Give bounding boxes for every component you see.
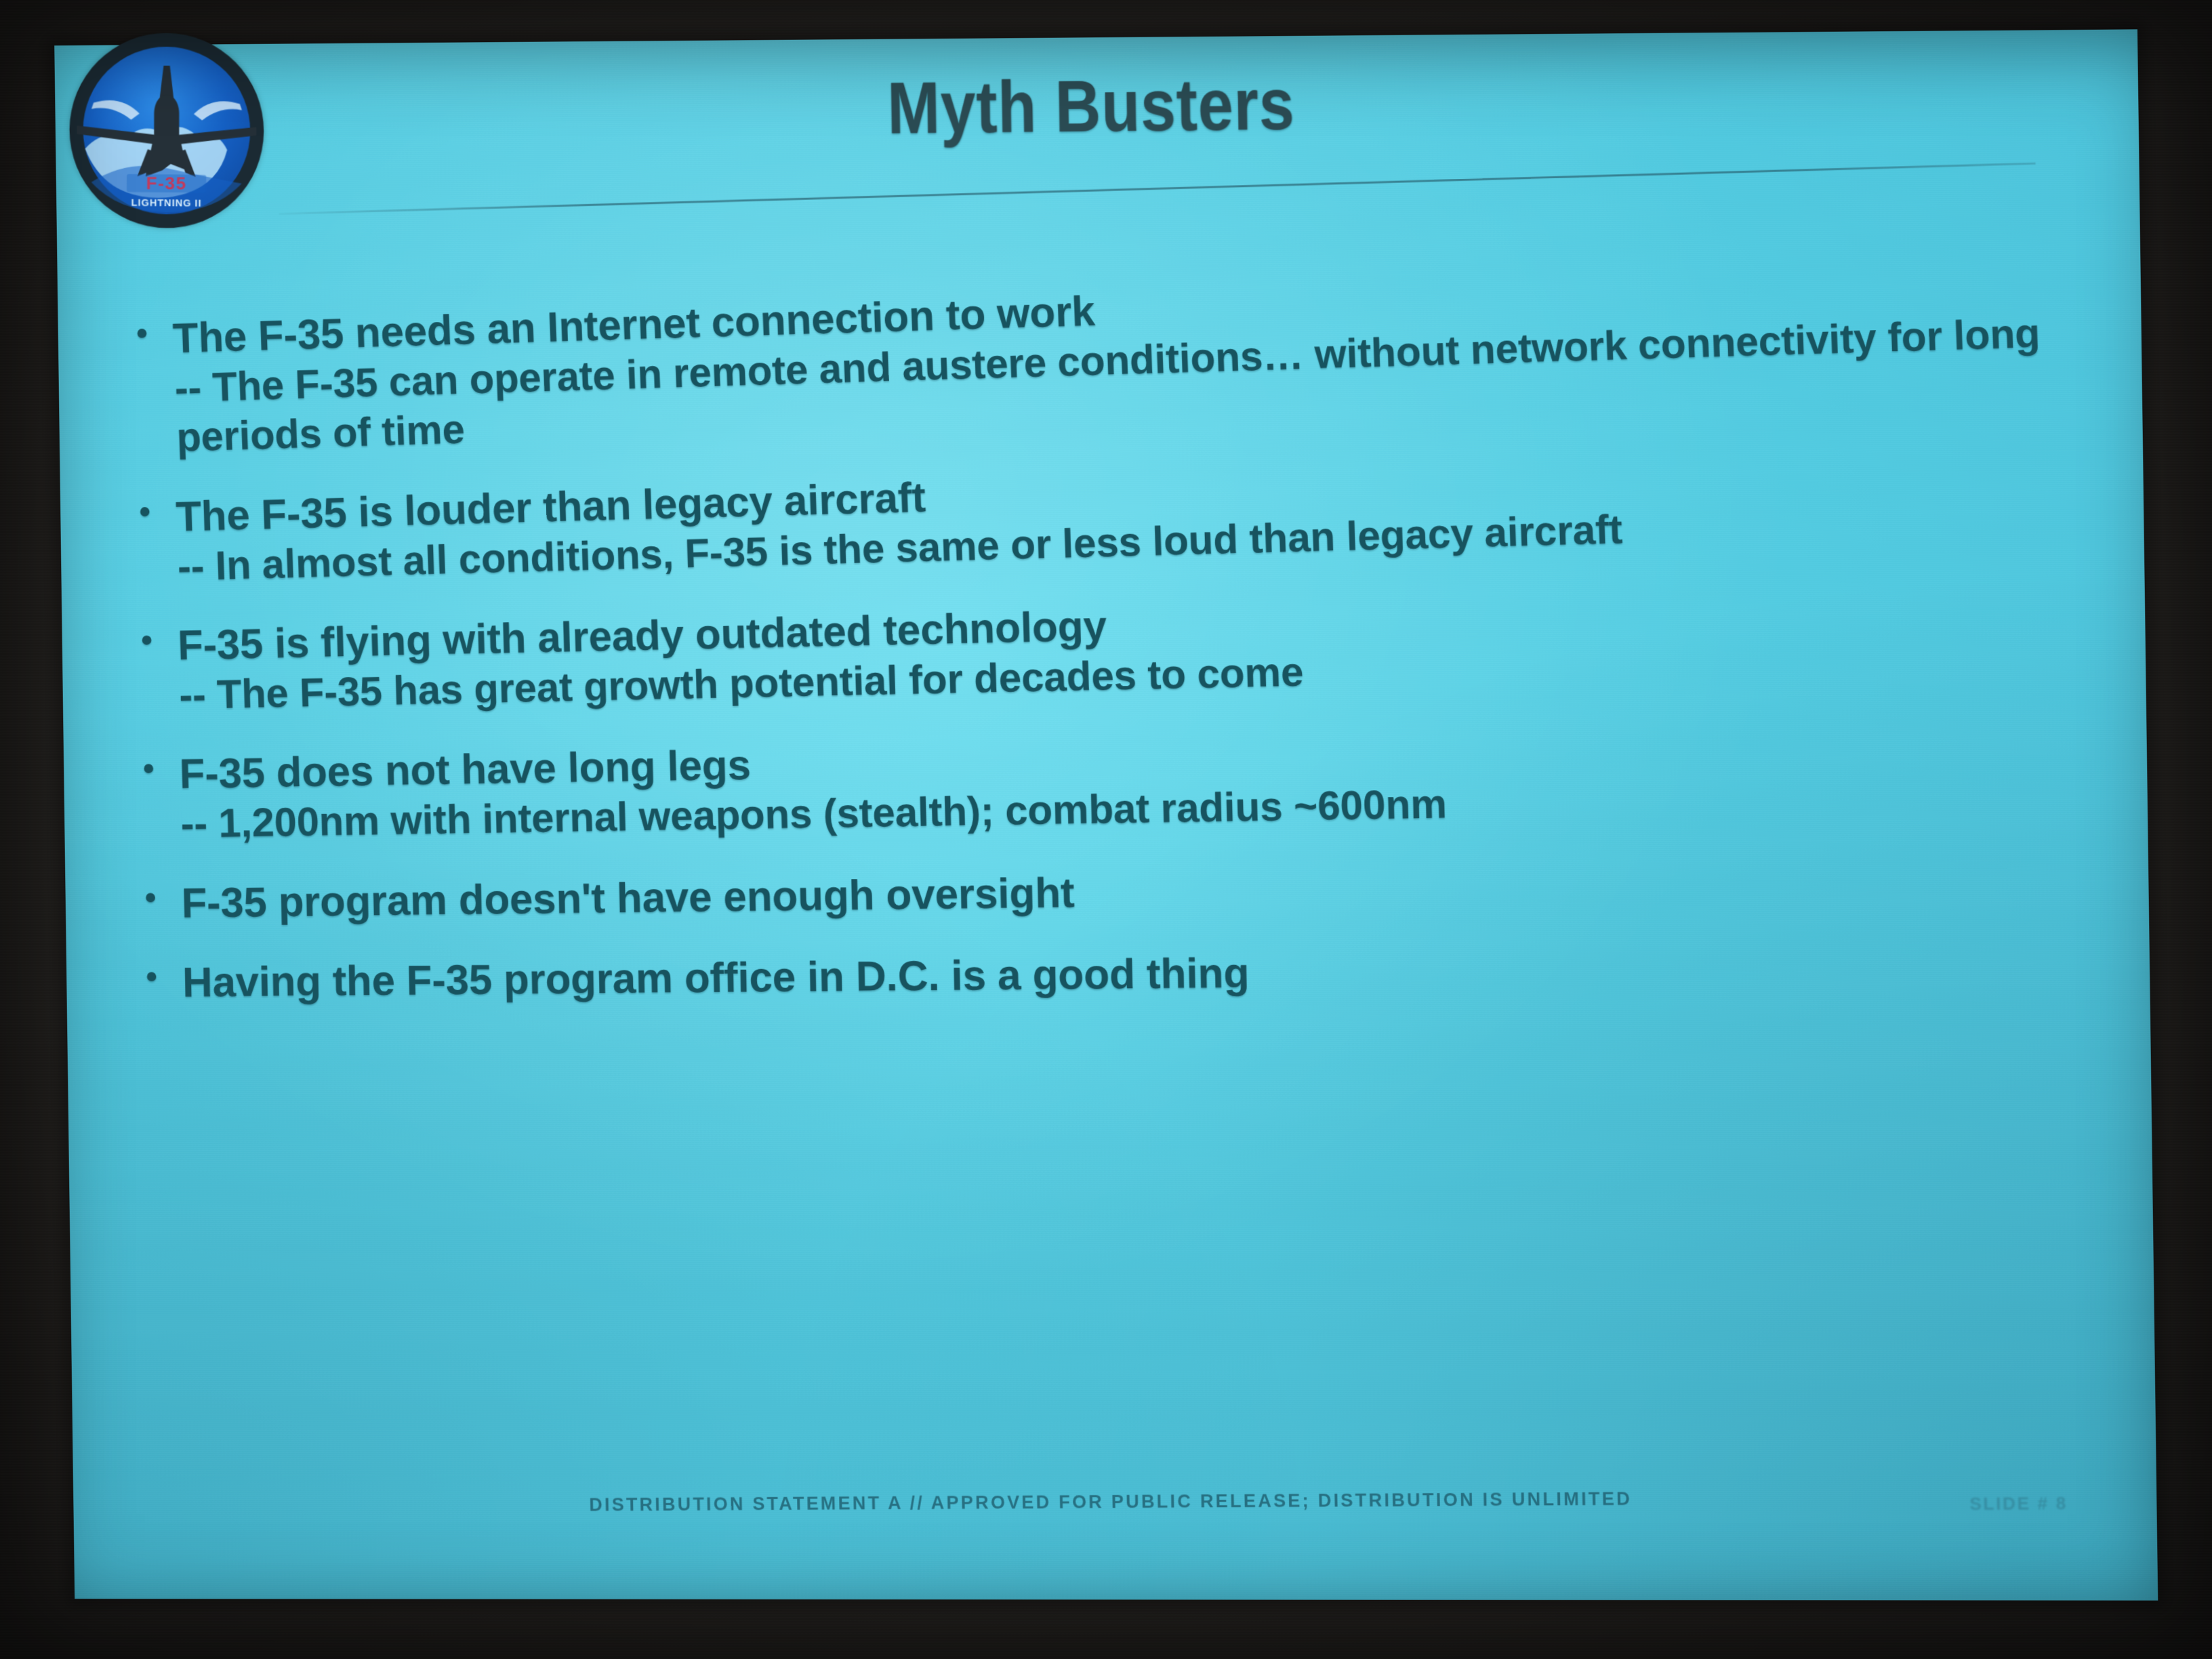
distribution-statement: DISTRIBUTION STATEMENT A // APPROVED FOR… [73,1486,2156,1519]
bullet-marker-icon: • [139,492,177,531]
bullet-text: F-35 program doesn't have enough oversig… [181,855,2141,928]
bullet-group: • The F-35 is louder than legacy aircraf… [139,441,2137,592]
bullet-marker-icon: • [142,750,180,788]
bullet-group: • F-35 does not have long legs -- 1,200n… [142,718,2139,849]
bullet-marker-icon: • [136,314,173,354]
projected-slide: F-35 LIGHTNING II Myth Busters • The F-3… [54,29,2158,1600]
bullet-group: • Having the F-35 program office in D.C.… [146,941,2142,1008]
slide-number: SLIDE # 8 [1969,1493,2068,1515]
svg-text:F-35: F-35 [146,173,187,193]
bullet-marker-icon: • [140,621,178,660]
bullet-group: • F-35 is flying with already outdated t… [140,579,2138,720]
svg-text:LIGHTNING II: LIGHTNING II [131,197,202,209]
bullet-list: • The F-35 needs an Internet connection … [138,303,2142,1038]
title-divider [279,163,2036,215]
bullet-item: • Having the F-35 program office in D.C.… [146,941,2142,1008]
slide-title: Myth Busters [199,54,1992,157]
bullet-text: Having the F-35 program office in D.C. i… [182,941,2142,1008]
slide-content: F-35 LIGHTNING II Myth Busters • The F-3… [54,29,2158,1600]
bullet-group: • The F-35 needs an Internet connection … [136,255,2135,464]
bullet-group: • F-35 program doesn't have enough overs… [144,855,2141,928]
bullet-marker-icon: • [146,958,183,996]
bullet-item: • F-35 program doesn't have enough overs… [144,855,2141,928]
bullet-marker-icon: • [144,878,182,917]
